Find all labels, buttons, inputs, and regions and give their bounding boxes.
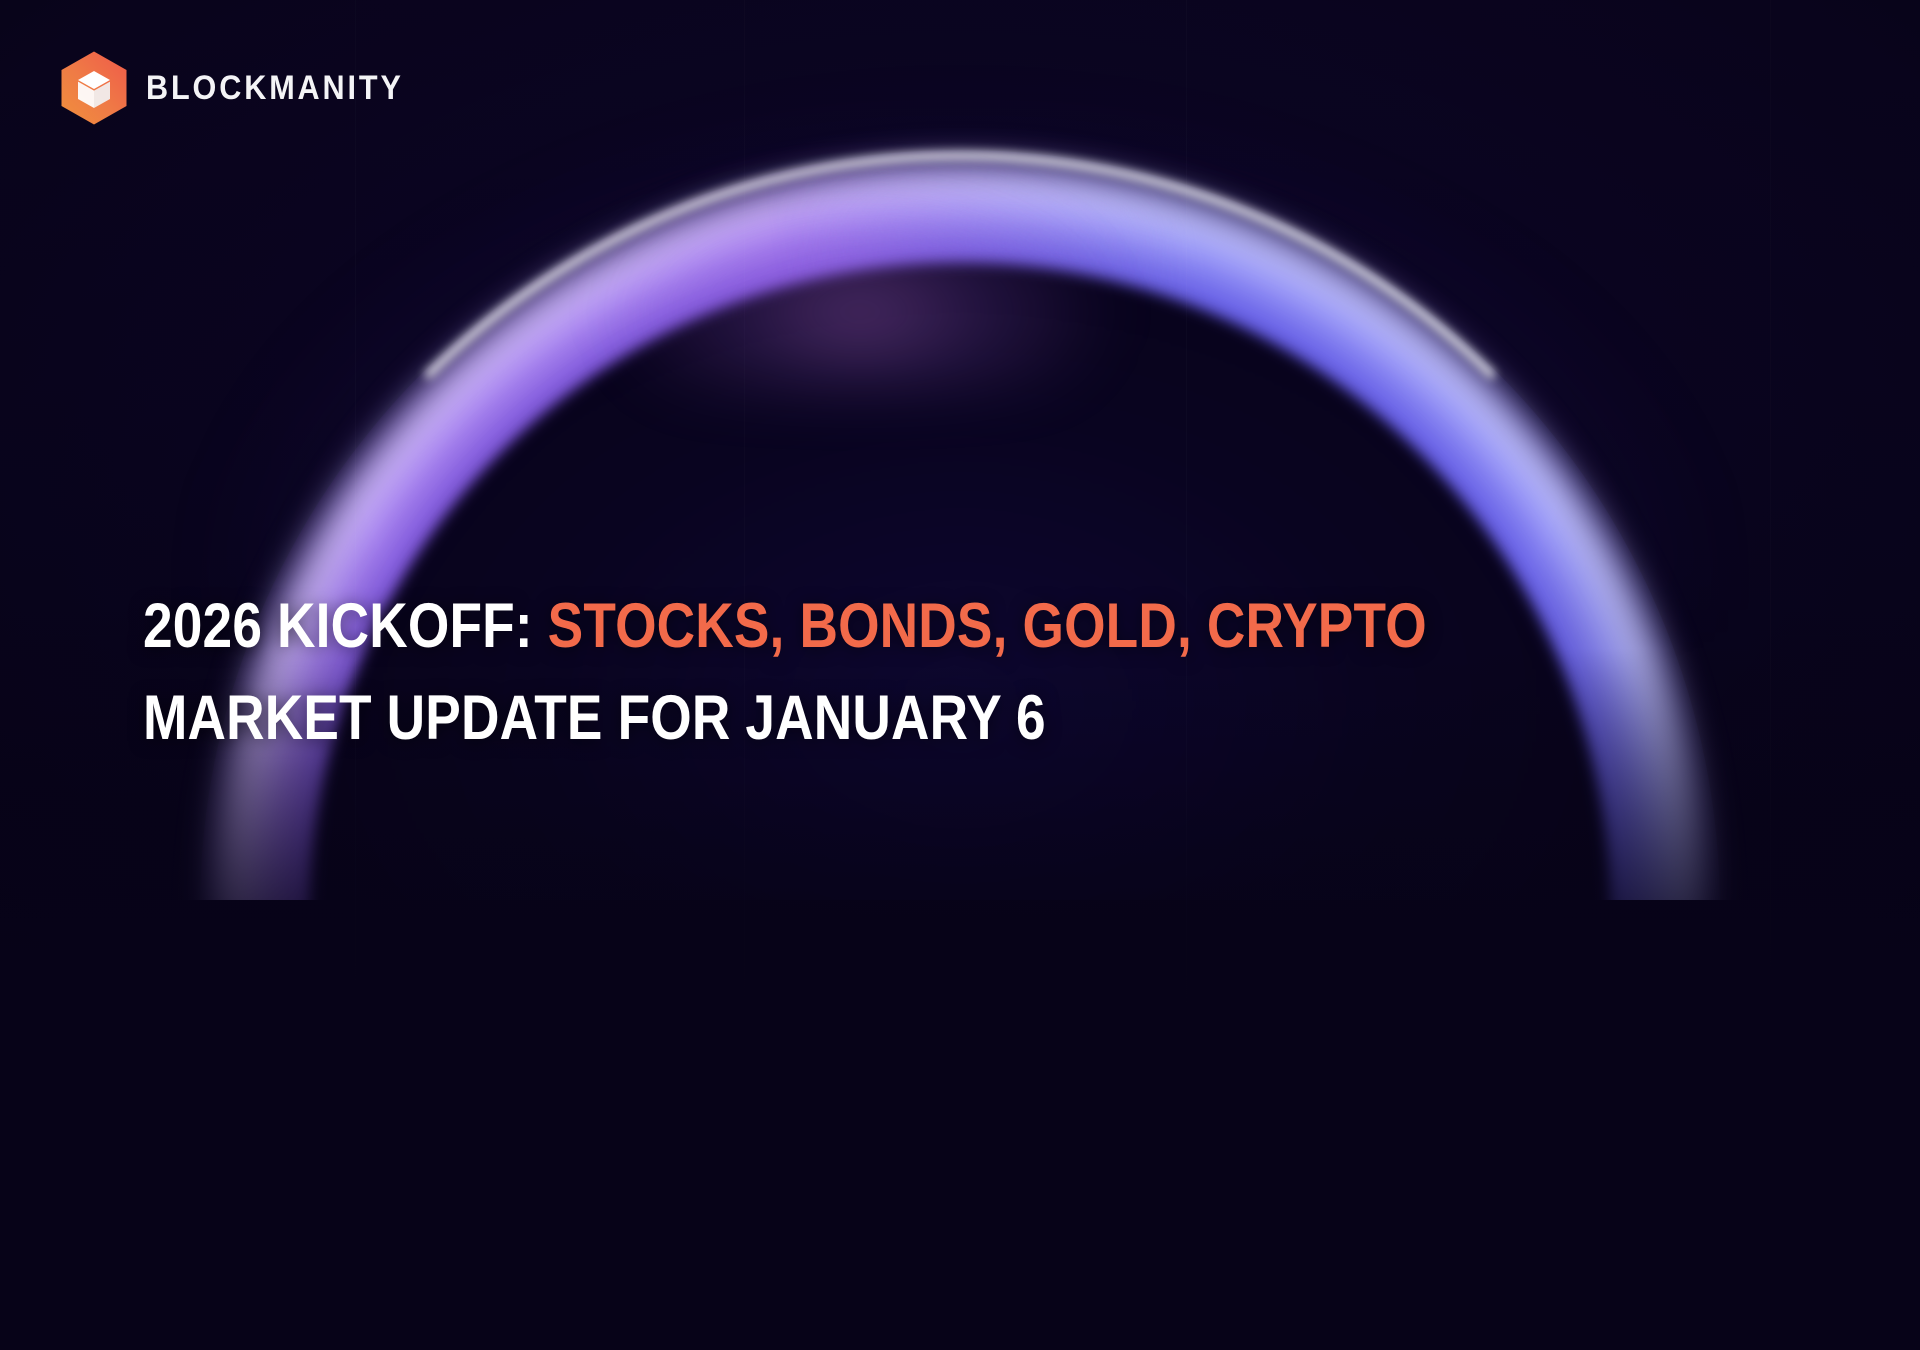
title-segment-lead: 2026 KICKOFF: [143,591,548,661]
hexagon-cube-icon [58,50,130,126]
title-segment-accent: STOCKS, BONDS, GOLD, CRYPTO [548,591,1427,661]
logo-wordmark: BLOCKMANITY [146,71,404,105]
site-logo[interactable]: BLOCKMANITY [58,50,432,126]
article-title: 2026 KICKOFF: STOCKS, BONDS, GOLD, CRYPT… [143,580,1563,764]
title-segment-tail: MARKET UPDATE FOR JANUARY 6 [143,683,1046,753]
hero-banner: BLOCKMANITY 2026 KICKOFF: STOCKS, BONDS,… [0,0,1920,1350]
